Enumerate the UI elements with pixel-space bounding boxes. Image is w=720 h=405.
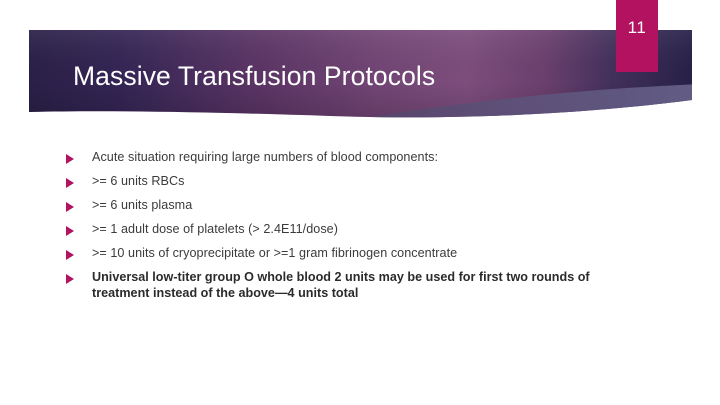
- list-item: Acute situation requiring large numbers …: [66, 150, 646, 166]
- list-item: >= 10 units of cryoprecipitate or >=1 gr…: [66, 246, 646, 262]
- list-item: Universal low-titer group O whole blood …: [66, 270, 646, 301]
- list-item-label: >= 6 units RBCs: [92, 174, 646, 190]
- page-number-badge: 11: [616, 0, 658, 72]
- page-title: Massive Transfusion Protocols: [73, 55, 593, 97]
- slide: Massive Transfusion Protocols 11 Acute s…: [0, 0, 720, 405]
- list-item-label: >= 6 units plasma: [92, 198, 646, 214]
- list-item: >= 1 adult dose of platelets (> 2.4E11/d…: [66, 222, 646, 238]
- page-number-text: 11: [616, 0, 658, 56]
- list-item-label: Acute situation requiring large numbers …: [92, 150, 646, 166]
- triangle-bullet-icon: [66, 202, 75, 212]
- bullet-list: Acute situation requiring large numbers …: [66, 150, 646, 310]
- title-banner: Massive Transfusion Protocols 11: [0, 0, 720, 130]
- triangle-bullet-icon: [66, 178, 75, 188]
- triangle-bullet-icon: [66, 250, 75, 260]
- triangle-bullet-icon: [66, 274, 75, 284]
- list-item: >= 6 units RBCs: [66, 174, 646, 190]
- triangle-bullet-icon: [66, 226, 75, 236]
- list-item: >= 6 units plasma: [66, 198, 646, 214]
- list-item-label: >= 10 units of cryoprecipitate or >=1 gr…: [92, 246, 646, 262]
- list-item-label: >= 1 adult dose of platelets (> 2.4E11/d…: [92, 222, 646, 238]
- triangle-bullet-icon: [66, 154, 75, 164]
- list-item-label: Universal low-titer group O whole blood …: [92, 270, 646, 301]
